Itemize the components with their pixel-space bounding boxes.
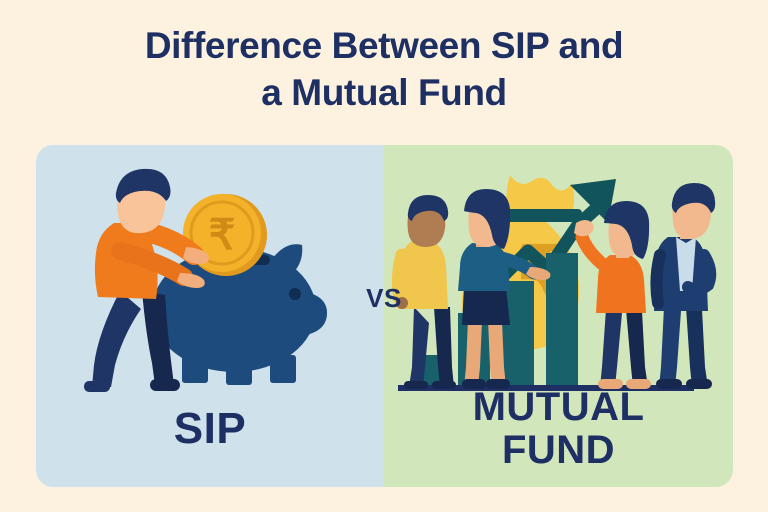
investor-man-suit-figure [654, 183, 715, 389]
infographic-canvas: Difference Between SIP and a Mutual Fund [0, 0, 768, 512]
panel-mutual-fund: ₹ [384, 145, 733, 487]
panel-sip: ₹ [36, 145, 384, 487]
svg-text:₹: ₹ [209, 211, 236, 258]
panel-label-mf-line-2: FUND [384, 429, 733, 471]
page-title: Difference Between SIP and a Mutual Fund [0, 22, 768, 117]
title-line-1: Difference Between SIP and [0, 22, 768, 69]
panel-label-sip: SIP [36, 406, 384, 453]
panel-label-mutual-fund: MUTUAL FUND [384, 386, 733, 471]
investor-woman-orange-figure [574, 201, 651, 389]
mutual-fund-illustration: ₹ [392, 159, 725, 417]
comparison-panels: ₹ [36, 145, 733, 487]
panel-label-mf-line-1: MUTUAL [384, 386, 733, 428]
sip-illustration: ₹ [58, 163, 364, 413]
title-line-2: a Mutual Fund [0, 69, 768, 116]
